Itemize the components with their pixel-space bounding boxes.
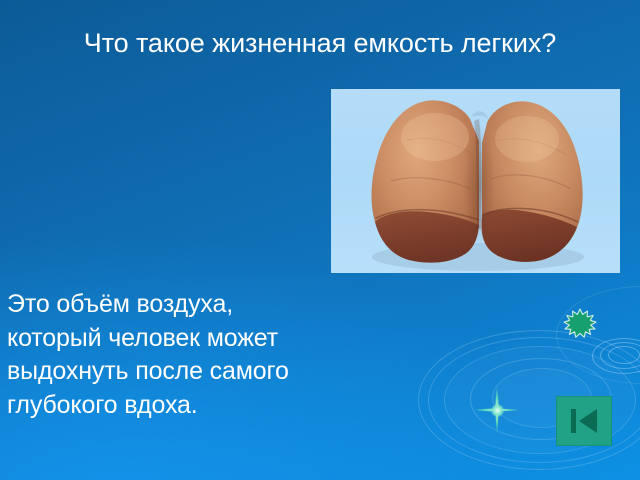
ripple-ring-upper-outer bbox=[592, 338, 640, 374]
lungs-photograph bbox=[331, 89, 620, 273]
four-point-star-icon bbox=[465, 378, 529, 442]
ripple-arc-right bbox=[556, 286, 640, 384]
body-text: Это объём воздуха, который человек может… bbox=[7, 288, 427, 422]
body-line: Это объём воздуха, bbox=[7, 288, 427, 322]
page-title: Что такое жизненная емкость легких? bbox=[16, 26, 624, 60]
body-line: выдохнуть после самого bbox=[7, 355, 427, 389]
ripple-ring-upper-inner bbox=[608, 346, 640, 364]
body-line: который человек может bbox=[7, 322, 427, 356]
skip-to-start-icon bbox=[568, 407, 600, 435]
starburst-icon bbox=[563, 308, 597, 338]
lungs-illustration bbox=[331, 89, 620, 273]
star-core bbox=[491, 404, 504, 417]
body-line: глубокого вдоха. bbox=[7, 389, 427, 423]
slide-canvas: Что такое жизненная емкость легких? bbox=[0, 0, 640, 480]
go-to-first-slide-button[interactable] bbox=[556, 396, 612, 446]
ripple-ring-upper-mid bbox=[600, 342, 640, 369]
